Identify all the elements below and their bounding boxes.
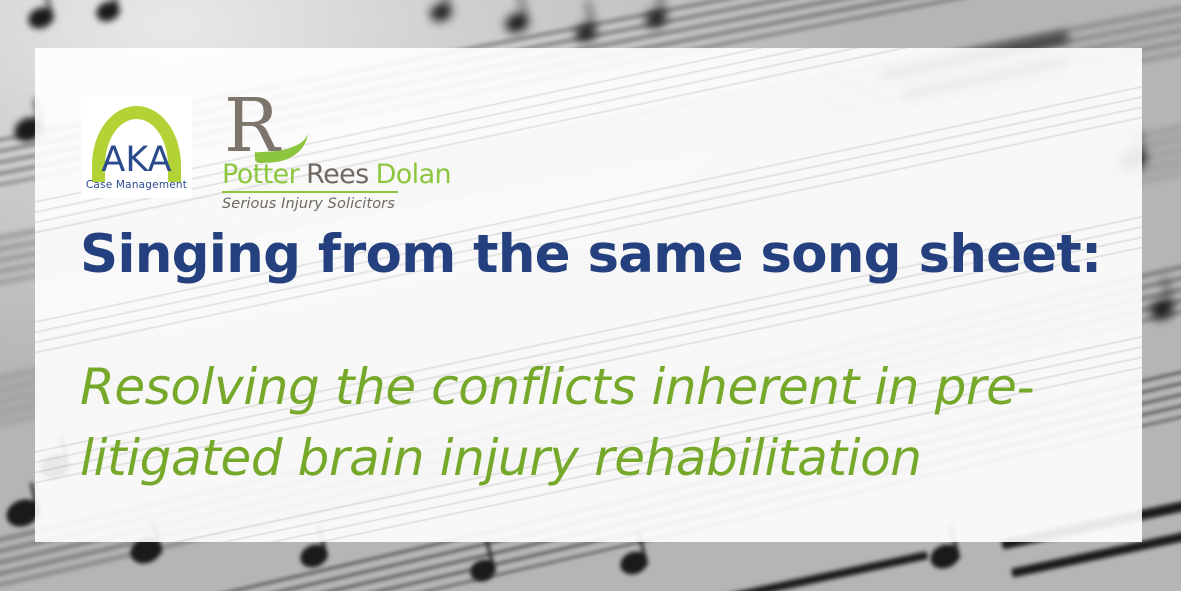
slide-subtitle: Resolving the conflicts inherent in pre-… [80,352,1100,494]
logo-row: AKA Case Management R PotterReesDolan Se… [81,95,451,212]
presentation-slide: AKA Case Management R PotterReesDolan Se… [0,0,1181,591]
prd-green-swoosh [253,120,309,164]
aka-tagline: Case Management [81,179,192,191]
prd-word-dolan: Dolan [376,159,451,190]
slide-headline: Singing from the same song sheet: [80,228,1101,281]
prd-underline [222,191,398,193]
prd-word-rees: Rees [306,159,368,190]
potter-rees-dolan-logo: R PotterReesDolan Serious Injury Solicit… [222,95,451,212]
r-monogram-swoosh-icon: R [224,97,310,163]
aka-wordmark: AKA [81,143,192,178]
aka-case-management-logo: AKA Case Management [81,95,192,198]
prd-tagline: Serious Injury Solicitors [222,196,451,212]
